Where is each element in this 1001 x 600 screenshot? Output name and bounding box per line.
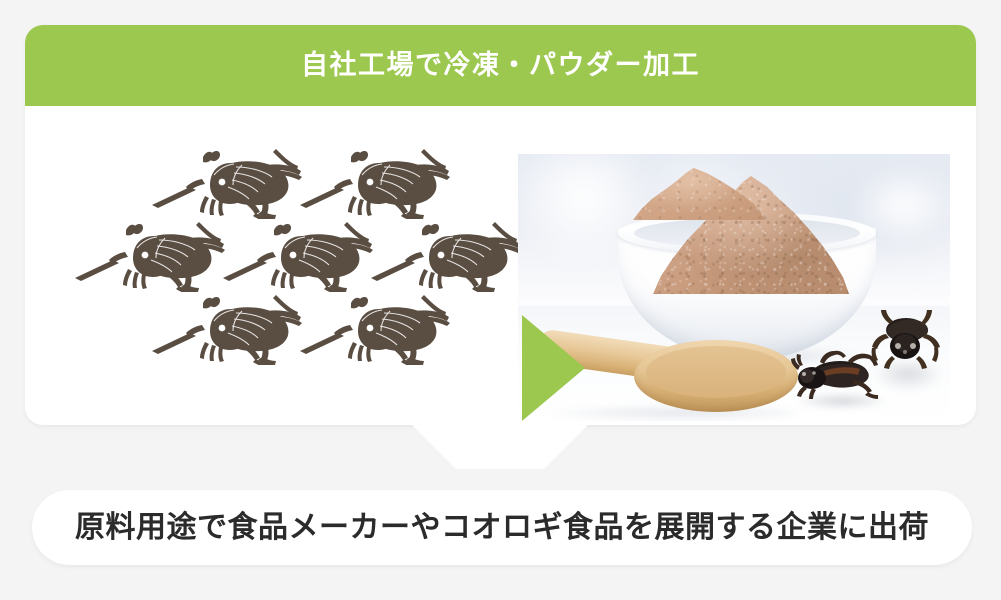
card-body	[25, 106, 976, 425]
page-title: 自社工場で冷凍・パウダー加工	[301, 52, 700, 79]
spoon-interior	[646, 346, 786, 398]
card-notch	[394, 425, 606, 469]
cricket-silhouette-icon	[369, 214, 524, 292]
cricket-silhouette-icon	[221, 214, 376, 292]
shipping-banner: 原料用途で食品メーカーやコオロギ食品を展開する企業に出荷	[32, 490, 972, 565]
process-card: 自社工場で冷凍・パウダー加工	[25, 25, 976, 425]
cricket-illustration-group	[40, 126, 510, 406]
cricket-silhouette-icon	[150, 141, 305, 219]
shipping-banner-text: 原料用途で食品メーカーやコオロギ食品を展開する企業に出荷	[75, 513, 929, 543]
process-arrow-icon	[522, 315, 585, 421]
cricket-silhouette-icon	[298, 141, 453, 219]
cricket-silhouette-icon	[73, 214, 228, 292]
cricket-front-view-photo	[870, 310, 940, 372]
card-header: 自社工場で冷凍・パウダー加工	[25, 25, 976, 106]
cricket-silhouette-icon	[298, 287, 453, 365]
cricket-side-view-photo	[790, 340, 882, 400]
cricket-silhouette-icon	[150, 287, 305, 365]
